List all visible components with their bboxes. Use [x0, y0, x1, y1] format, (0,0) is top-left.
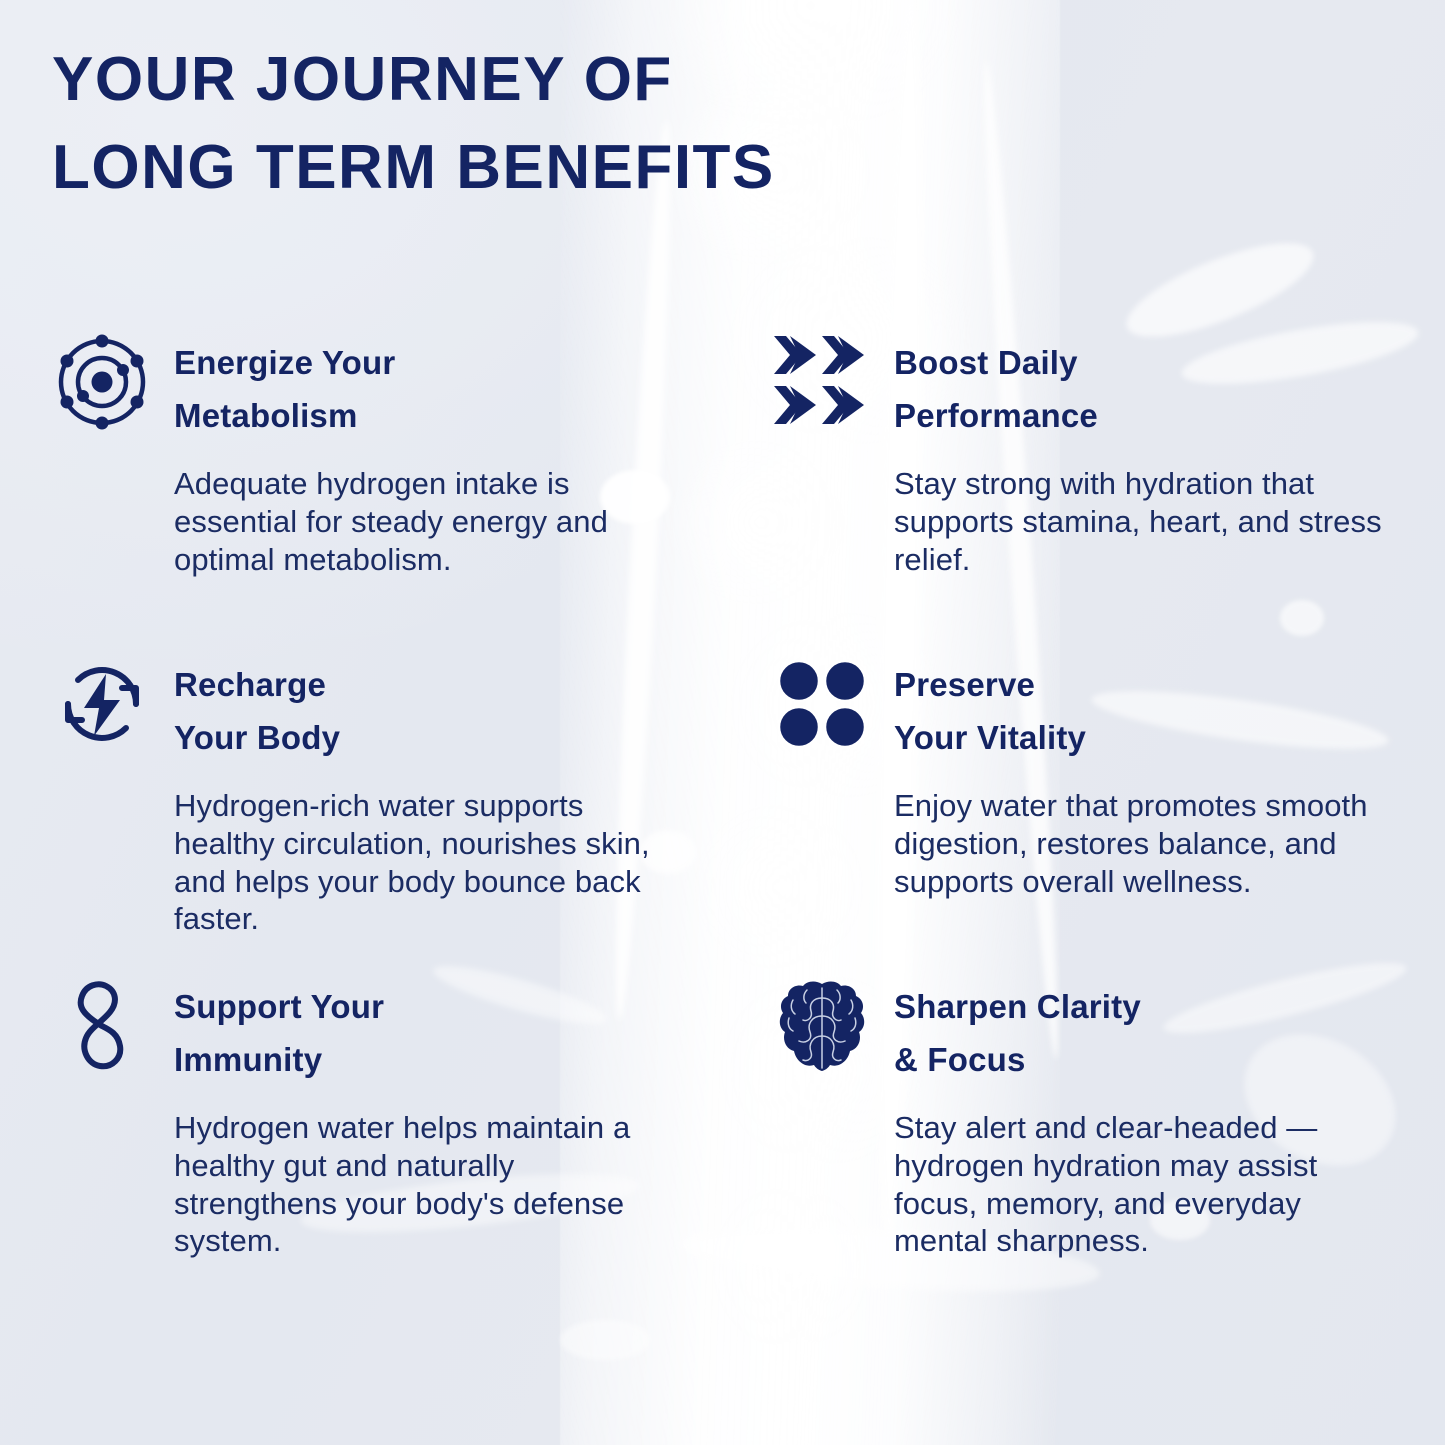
brain-icon	[768, 974, 876, 1078]
four-circles-icon	[768, 652, 876, 756]
recharge-bolt-icon	[48, 652, 156, 756]
benefit-header: Preserve Your Vitality	[768, 652, 1388, 765]
benefit-heading-line-1: Sharpen Clarity	[894, 980, 1141, 1033]
benefit-header: Energize Your Metabolism	[48, 330, 668, 443]
benefit-card-preserve-your-vitality: Preserve Your Vitality Enjoy water that …	[768, 652, 1388, 900]
benefit-description: Enjoy water that promotes smooth digesti…	[894, 787, 1388, 900]
benefit-card-sharpen-clarity-and-focus: Sharpen Clarity & Focus Stay alert and c…	[768, 974, 1388, 1260]
benefit-heading: Energize Your Metabolism	[174, 330, 395, 443]
benefit-heading-line-1: Boost Daily	[894, 336, 1098, 389]
benefit-heading-line-1: Recharge	[174, 658, 340, 711]
benefit-heading-line-2: & Focus	[894, 1033, 1141, 1086]
benefit-header: Recharge Your Body	[48, 652, 668, 765]
benefit-card-recharge-your-body: Recharge Your Body Hydrogen-rich water s…	[48, 652, 668, 938]
benefit-header: Boost Daily Performance	[768, 330, 1388, 443]
benefit-description: Stay strong with hydration that supports…	[894, 465, 1388, 578]
benefit-heading-line-1: Support Your	[174, 980, 384, 1033]
benefit-heading: Sharpen Clarity & Focus	[894, 974, 1141, 1087]
benefit-card-energize-your-metabolism: Energize Your Metabolism Adequate hydrog…	[48, 330, 668, 578]
benefit-description: Hydrogen water helps maintain a healthy …	[174, 1109, 668, 1260]
benefit-description: Adequate hydrogen intake is essential fo…	[174, 465, 668, 578]
double-chevron-icon	[768, 330, 876, 434]
benefit-heading: Preserve Your Vitality	[894, 652, 1086, 765]
benefit-heading: Boost Daily Performance	[894, 330, 1098, 443]
benefits-row: Support Your Immunity Hydrogen water hel…	[0, 974, 1445, 1296]
benefit-card-boost-daily-performance: Boost Daily Performance Stay strong with…	[768, 330, 1388, 578]
benefit-header: Sharpen Clarity & Focus	[768, 974, 1388, 1087]
benefit-heading-line-2: Metabolism	[174, 389, 395, 442]
benefits-row: Recharge Your Body Hydrogen-rich water s…	[0, 652, 1445, 974]
page-title-line-1: YOUR JOURNEY OF	[52, 36, 952, 124]
benefit-heading: Support Your Immunity	[174, 974, 384, 1087]
benefit-description: Hydrogen-rich water supports healthy cir…	[174, 787, 668, 938]
infographic-poster: YOUR JOURNEY OF LONG TERM BENEFITS	[0, 0, 1445, 1445]
benefit-description: Stay alert and clear-headed — hydrogen h…	[894, 1109, 1388, 1260]
page-title: YOUR JOURNEY OF LONG TERM BENEFITS	[52, 36, 952, 212]
atom-icon	[48, 330, 156, 434]
benefits-row: Energize Your Metabolism Adequate hydrog…	[0, 330, 1445, 652]
infinity-icon	[48, 974, 156, 1078]
benefit-heading-line-1: Preserve	[894, 658, 1086, 711]
benefit-heading: Recharge Your Body	[174, 652, 340, 765]
benefit-card-support-your-immunity: Support Your Immunity Hydrogen water hel…	[48, 974, 668, 1260]
benefit-heading-line-2: Immunity	[174, 1033, 384, 1086]
benefit-header: Support Your Immunity	[48, 974, 668, 1087]
benefit-heading-line-1: Energize Your	[174, 336, 395, 389]
page-title-line-2: LONG TERM BENEFITS	[52, 124, 952, 212]
benefit-heading-line-2: Your Body	[174, 711, 340, 764]
benefit-heading-line-2: Performance	[894, 389, 1098, 442]
water-droplet	[560, 1320, 650, 1360]
benefits-grid: Energize Your Metabolism Adequate hydrog…	[0, 330, 1445, 1296]
benefit-heading-line-2: Your Vitality	[894, 711, 1086, 764]
